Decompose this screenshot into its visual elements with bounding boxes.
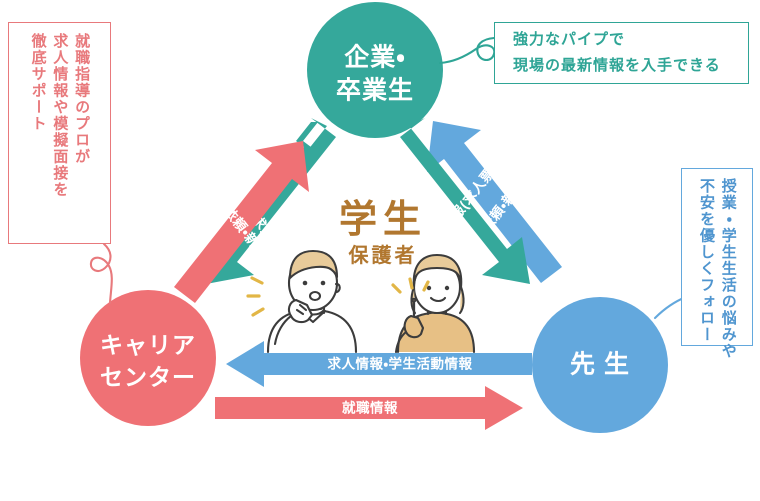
callout-teacher-text: 授業・学生生活の悩みや 不安を優しくフォロー: [695, 178, 739, 360]
callout-company: 強力なパイプで 現場の最新情報を入手できる: [494, 22, 749, 84]
diagram-canvas: 求人情報(求人票) 求人依頼・新規開拓 求人依頼・新規開拓 求人情報(求人票) …: [0, 0, 760, 501]
callout-company-text: 強力なパイプで 現場の最新情報を入手できる: [513, 27, 748, 80]
callout-career-center: 就職指導のプロが 求人情報や模擬面接を 徹底サポート: [8, 22, 111, 244]
connector-curl-left: [91, 244, 112, 303]
callout-teacher: 授業・学生生活の悩みや 不安を優しくフォロー: [681, 168, 753, 346]
callout-career-center-text: 就職指導のプロが 求人情報や模擬面接を 徹底サポート: [27, 33, 92, 198]
connector-curl-topright: [440, 38, 494, 63]
